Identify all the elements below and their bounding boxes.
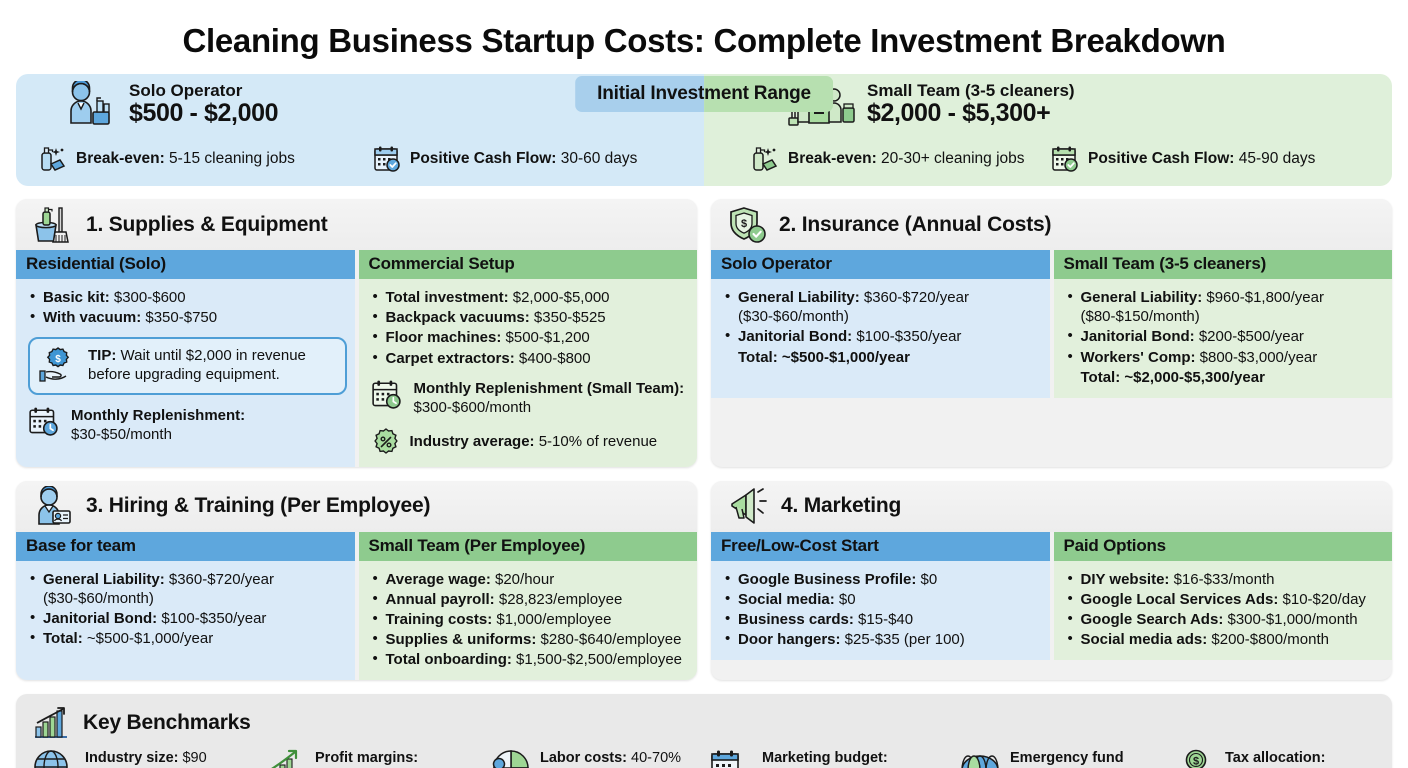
- list-item: Social media: $0: [723, 590, 1042, 609]
- item-label: Total:: [43, 630, 83, 647]
- section-card-insurance: $ 2. Insurance (Annual Costs) Solo Opera…: [711, 199, 1392, 467]
- list-item: DIY website: $16-$33/month: [1066, 570, 1385, 589]
- solo-breakeven-label: Break-even:: [76, 150, 165, 167]
- svg-text:$: $: [55, 354, 61, 365]
- replenishment-label: Monthly Replenishment:: [71, 407, 245, 424]
- benchmark-profit-margins: Profit margins:10-30% (residential): [262, 748, 487, 768]
- item-value: $15-$40: [854, 611, 913, 628]
- item-label: Carpet extractors:: [386, 350, 515, 367]
- marketing-paid-column: Paid Options DIY website: $16-$33/month …: [1054, 532, 1393, 661]
- item-value: $0: [916, 571, 937, 588]
- list-item-total: Total: ~$2,000-$5,300/year: [1066, 368, 1385, 387]
- item-value: $2,000-$5,000: [509, 289, 610, 306]
- item-label: Total onboarding:: [386, 651, 512, 668]
- insurance-columns: Solo Operator General Liability: $360-$7…: [711, 250, 1392, 398]
- marketing-columns: Free/Low-Cost Start Google Business Prof…: [711, 532, 1392, 661]
- benchmark-text: Labor costs: 40-70%of operating expenses: [540, 748, 683, 768]
- item-label: Social media ads:: [1081, 631, 1208, 648]
- supplies-tip-box: $ TIP: Wait until $2,000 in revenue befo…: [28, 337, 347, 395]
- hiring-team-heading: Small Team (Per Employee): [359, 532, 698, 561]
- section-card-marketing: 4. Marketing Free/Low-Cost Start Google …: [711, 481, 1392, 681]
- benchmark-industry-size: $ Industry size: $90billion annually (U.…: [32, 748, 262, 768]
- item-value: $500-$1,200: [501, 329, 589, 346]
- item-label: Janitorial Bond:: [738, 328, 852, 345]
- item-value: $200-$800/month: [1207, 631, 1329, 648]
- list-item: Google Search Ads: $300-$1,000/month: [1066, 610, 1385, 629]
- item-value: $360-$720/year: [165, 571, 274, 588]
- globe-dollar-icon: $: [32, 748, 76, 768]
- supplies-header: 1. Supplies & Equipment: [16, 199, 697, 250]
- benchmark-text: Profit margins:10-30% (residential): [315, 748, 445, 768]
- item-label: Annual payroll:: [386, 591, 495, 608]
- item-total: Total: ~$2,000-$5,300/year: [1081, 369, 1265, 386]
- shield-dollar-icon: $: [727, 205, 769, 245]
- item-subvalue: ($30-$60/month): [738, 307, 1042, 326]
- list-item: Google Business Profile: $0: [723, 570, 1042, 589]
- replenishment-text: Monthly Replenishment (Small Team):$300-…: [414, 379, 685, 418]
- list-item: Training costs: $1,000/employee: [371, 610, 690, 629]
- insurance-solo-body: General Liability: $360-$720/year($30-$6…: [711, 279, 1050, 398]
- employee-badge-icon: [32, 486, 76, 526]
- infographic-page: Cleaning Business Startup Costs: Complet…: [0, 0, 1408, 768]
- hiring-team-list: Average wage: $20/hour Annual payroll: $…: [371, 570, 690, 670]
- hiring-title: 3. Hiring & Training (Per Employee): [86, 494, 430, 518]
- item-label: General Liability:: [1081, 289, 1203, 306]
- marketing-free-heading: Free/Low-Cost Start: [711, 532, 1050, 561]
- item-label: Basic kit:: [43, 289, 110, 306]
- supplies-residential-column: Residential (Solo) Basic kit: $300-$600 …: [16, 250, 355, 467]
- benchmark-label: Marketing budget:: [762, 750, 888, 766]
- hiring-team-body: Average wage: $20/hour Annual payroll: $…: [359, 561, 698, 681]
- tip-label: TIP:: [88, 347, 116, 364]
- item-value: $280-$640/employee: [536, 631, 681, 648]
- investment-range-badge: Initial Investment Range: [575, 76, 833, 112]
- industry-average-label: Industry average:: [410, 433, 535, 450]
- item-value: $350-$750: [141, 309, 217, 326]
- insurance-team-heading: Small Team (3-5 cleaners): [1054, 250, 1393, 279]
- item-value: $300-$1,000/month: [1223, 611, 1357, 628]
- list-item: Annual payroll: $28,823/employee: [371, 590, 690, 609]
- sections-grid: 1. Supplies & Equipment Residential (Sol…: [16, 199, 1392, 680]
- list-item: Total onboarding: $1,500-$2,500/employee: [371, 650, 690, 669]
- percent-badge-icon: [371, 427, 401, 457]
- supplies-residential-heading: Residential (Solo): [16, 250, 355, 279]
- list-item: Supplies & uniforms: $280-$640/employee: [371, 630, 690, 649]
- item-value: $28,823/employee: [495, 591, 623, 608]
- marketing-free-column: Free/Low-Cost Start Google Business Prof…: [711, 532, 1050, 661]
- team-breakeven-label: Break-even:: [788, 150, 877, 167]
- insurance-team-column: Small Team (3-5 cleaners) General Liabil…: [1054, 250, 1393, 398]
- calendar-clock-icon: [371, 379, 405, 413]
- item-value: $16-$33/month: [1169, 571, 1274, 588]
- item-value: $400-$800: [515, 350, 591, 367]
- item-label: General Liability:: [738, 289, 860, 306]
- team-cashflow-text: Positive Cash Flow: 45-90 days: [1088, 150, 1315, 167]
- insurance-solo-column: Solo Operator General Liability: $360-$7…: [711, 250, 1050, 398]
- item-value: $300-$600: [110, 289, 186, 306]
- item-label: Janitorial Bond:: [43, 610, 157, 627]
- team-breakeven-stat: Break-even: 20-30+ cleaning jobs: [720, 144, 1050, 174]
- insurance-solo-list: General Liability: $360-$720/year($30-$6…: [723, 288, 1042, 367]
- spray-bottle-icon: [38, 144, 68, 174]
- section-card-supplies: 1. Supplies & Equipment Residential (Sol…: [16, 199, 697, 467]
- list-item: Workers' Comp: $800-$3,000/year: [1066, 348, 1385, 367]
- item-label: Google Search Ads:: [1081, 611, 1224, 628]
- hiring-base-heading: Base for team: [16, 532, 355, 561]
- marketing-header: 4. Marketing: [711, 481, 1392, 532]
- bucket-mop-icon: [32, 205, 76, 245]
- item-label: DIY website:: [1081, 571, 1170, 588]
- supplies-residential-replenishment: Monthly Replenishment:$30-$50/month: [28, 406, 347, 445]
- insurance-team-body: General Liability: $960-$1,800/year($80-…: [1054, 279, 1393, 398]
- supplies-industry-average: Industry average: 5-10% of revenue: [371, 427, 690, 457]
- benchmarks-title: Key Benchmarks: [83, 711, 251, 735]
- svg-text:$: $: [1193, 756, 1199, 768]
- page-title: Cleaning Business Startup Costs: Complet…: [16, 0, 1392, 74]
- hiring-base-list: General Liability: $360-$720/year($30-$6…: [28, 570, 347, 649]
- item-value: $100-$350/year: [157, 610, 266, 627]
- investment-range-banner: Solo Operator $500 - $2,000: [16, 74, 1392, 186]
- benchmark-value: 40-70%: [627, 750, 681, 766]
- item-value: $960-$1,800/year: [1202, 289, 1324, 306]
- item-label: Backpack vacuums:: [386, 309, 530, 326]
- replenishment-value: $30-$50/month: [71, 426, 245, 445]
- calendar-check-icon: [1050, 144, 1080, 174]
- umbrella-icon: [959, 748, 1001, 768]
- solo-cleaner-icon: [64, 81, 118, 129]
- section-card-hiring: 3. Hiring & Training (Per Employee) Base…: [16, 481, 697, 681]
- marketing-paid-list: DIY website: $16-$33/month Google Local …: [1066, 570, 1385, 650]
- marketing-paid-heading: Paid Options: [1054, 532, 1393, 561]
- supplies-commercial-list: Total investment: $2,000-$5,000 Backpack…: [371, 288, 690, 368]
- benchmark-tax-allocation: $ Tax allocation:25-30% of income: [1174, 748, 1374, 768]
- item-value: $0: [835, 591, 856, 608]
- insurance-solo-heading: Solo Operator: [711, 250, 1050, 279]
- benchmark-text: Emergency fundrecommended:$1,000 minimum: [1010, 748, 1124, 768]
- item-label: Business cards:: [738, 611, 854, 628]
- megaphone-icon: [727, 486, 771, 526]
- replenishment-value: $300-$600/month: [414, 399, 685, 418]
- item-total: Total: ~$500-$1,000/year: [738, 349, 910, 366]
- list-item: Janitorial Bond: $100-$350/year: [28, 609, 347, 628]
- team-breakeven-value: 20-30+ cleaning jobs: [877, 150, 1025, 167]
- supplies-columns: Residential (Solo) Basic kit: $300-$600 …: [16, 250, 697, 467]
- item-label: Janitorial Bond:: [1081, 328, 1195, 345]
- benchmark-emergency-fund: Emergency fundrecommended:$1,000 minimum: [959, 748, 1174, 768]
- team-cashflow-label: Positive Cash Flow:: [1088, 150, 1234, 167]
- banner-team-stats: Break-even: 20-30+ cleaning jobs: [704, 136, 1392, 182]
- solo-amount: $500 - $2,000: [129, 100, 278, 128]
- item-value: $100-$350/year: [852, 328, 961, 345]
- item-value: ~$500-$1,000/year: [83, 630, 214, 647]
- team-cashflow-value: 45-90 days: [1234, 150, 1315, 167]
- item-value: $1,500-$2,500/employee: [512, 651, 682, 668]
- item-value: $25-$35 (per 100): [841, 631, 965, 648]
- item-label: Floor machines:: [386, 329, 502, 346]
- team-breakeven-text: Break-even: 20-30+ cleaning jobs: [788, 150, 1025, 167]
- list-item: General Liability: $960-$1,800/year($80-…: [1066, 288, 1385, 326]
- supplies-residential-body: Basic kit: $300-$600 With vacuum: $350-$…: [16, 279, 355, 467]
- benchmark-text: Industry size: $90billion annually (U.S.…: [85, 748, 222, 768]
- tip-text: TIP: Wait until $2,000 in revenue before…: [88, 347, 337, 385]
- list-item-total: Total: ~$500-$1,000/year: [723, 348, 1042, 367]
- calendar-clock-icon: [28, 406, 62, 440]
- benchmark-label: Tax allocation:: [1225, 750, 1325, 766]
- item-value: $20/hour: [491, 571, 554, 588]
- key-benchmarks-panel: Key Benchmarks $ Industry size: $90billi…: [16, 694, 1392, 768]
- list-item: General Liability: $360-$720/year($30-$6…: [28, 570, 347, 608]
- benchmark-label: Industry size:: [85, 750, 178, 766]
- list-item: Carpet extractors: $400-$800: [371, 349, 690, 368]
- item-label: Google Local Services Ads:: [1081, 591, 1279, 608]
- item-label: Total investment:: [386, 289, 509, 306]
- insurance-team-list: General Liability: $960-$1,800/year($80-…: [1066, 288, 1385, 387]
- bar-chart-up-icon: [32, 706, 72, 740]
- people-pie-icon: [487, 748, 531, 768]
- item-label: Social media:: [738, 591, 835, 608]
- hiring-header: 3. Hiring & Training (Per Employee): [16, 481, 697, 532]
- benchmark-label: Emergency fund: [1010, 750, 1124, 766]
- item-value: $800-$3,000/year: [1195, 349, 1317, 366]
- solo-cashflow-stat: Positive Cash Flow: 30-60 days: [372, 144, 637, 174]
- item-label: Google Business Profile:: [738, 571, 916, 588]
- solo-breakeven-value: 5-15 cleaning jobs: [165, 150, 295, 167]
- marketing-title: 4. Marketing: [781, 494, 901, 518]
- list-item: Social media ads: $200-$800/month: [1066, 630, 1385, 649]
- list-item: Total investment: $2,000-$5,000: [371, 288, 690, 307]
- item-label: Average wage:: [386, 571, 491, 588]
- list-item: Average wage: $20/hour: [371, 570, 690, 589]
- list-item: Floor machines: $500-$1,200: [371, 328, 690, 347]
- supplies-residential-list: Basic kit: $300-$600 With vacuum: $350-$…: [28, 288, 347, 327]
- solo-cashflow-text: Positive Cash Flow: 30-60 days: [410, 150, 637, 167]
- item-value: $350-$525: [530, 309, 606, 326]
- item-subvalue: ($80-$150/month): [1081, 307, 1385, 326]
- hiring-team-column: Small Team (Per Employee) Average wage: …: [359, 532, 698, 681]
- supplies-commercial-replenishment: Monthly Replenishment (Small Team):$300-…: [371, 379, 690, 418]
- replenishment-text: Monthly Replenishment:$30-$50/month: [71, 406, 245, 445]
- tip-value: Wait until $2,000 in revenue before upgr…: [88, 347, 306, 383]
- benchmark-text: Marketing budget:2-5% of monthly revenue…: [762, 748, 923, 768]
- benchmark-label: Labor costs:: [540, 750, 627, 766]
- item-value: $10-$20/day: [1278, 591, 1366, 608]
- solo-cashflow-value: 30-60 days: [556, 150, 637, 167]
- solo-cashflow-label: Positive Cash Flow:: [410, 150, 556, 167]
- industry-average-value: 5-10% of revenue: [535, 433, 658, 450]
- calendar-check-icon: [372, 144, 402, 174]
- item-label: Workers' Comp:: [1081, 349, 1196, 366]
- benchmark-marketing-budget: Marketing budget:2-5% of monthly revenue…: [709, 748, 959, 768]
- item-subvalue: ($30-$60/month): [43, 589, 347, 608]
- list-item: General Liability: $360-$720/year($30-$6…: [723, 288, 1042, 326]
- spray-bottle-icon: [750, 144, 780, 174]
- list-item: Janitorial Bond: $200-$500/year: [1066, 327, 1385, 346]
- list-item: Total: ~$500-$1,000/year: [28, 629, 347, 648]
- item-label: With vacuum:: [43, 309, 141, 326]
- benchmark-label: Profit margins:: [315, 750, 418, 766]
- supplies-commercial-column: Commercial Setup Total investment: $2,00…: [359, 250, 698, 467]
- hiring-columns: Base for team General Liability: $360-$7…: [16, 532, 697, 681]
- marketing-paid-body: DIY website: $16-$33/month Google Local …: [1054, 561, 1393, 661]
- benchmark-labor-costs: Labor costs: 40-70%of operating expenses: [487, 748, 709, 768]
- list-item: Door hangers: $25-$35 (per 100): [723, 630, 1042, 649]
- item-label: Door hangers:: [738, 631, 841, 648]
- benchmarks-items: $ Industry size: $90billion annually (U.…: [32, 748, 1376, 768]
- item-value: $200-$500/year: [1195, 328, 1304, 345]
- insurance-header: $ 2. Insurance (Annual Costs): [711, 199, 1392, 250]
- badge-label: Initial Investment Range: [575, 83, 833, 105]
- solo-breakeven-stat: Break-even: 5-15 cleaning jobs: [32, 144, 372, 174]
- hand-coin-green-icon: $: [1174, 748, 1216, 768]
- industry-average-text: Industry average: 5-10% of revenue: [410, 432, 658, 452]
- list-item: Basic kit: $300-$600: [28, 288, 347, 307]
- supplies-commercial-body: Total investment: $2,000-$5,000 Backpack…: [359, 279, 698, 467]
- benchmark-value: $90: [178, 750, 206, 766]
- hiring-base-body: General Liability: $360-$720/year($30-$6…: [16, 561, 355, 681]
- list-item: Janitorial Bond: $100-$350/year: [723, 327, 1042, 346]
- marketing-free-list: Google Business Profile: $0 Social media…: [723, 570, 1042, 650]
- marketing-free-body: Google Business Profile: $0 Social media…: [711, 561, 1050, 661]
- hand-coin-icon: $: [38, 346, 80, 386]
- item-value: $360-$720/year: [860, 289, 969, 306]
- team-cashflow-stat: Positive Cash Flow: 45-90 days: [1050, 144, 1315, 174]
- team-amount: $2,000 - $5,300+: [867, 100, 1075, 128]
- hiring-base-column: Base for team General Liability: $360-$7…: [16, 532, 355, 681]
- svg-text:$: $: [741, 218, 747, 230]
- supplies-commercial-heading: Commercial Setup: [359, 250, 698, 279]
- team-label: Small Team (3-5 cleaners): [867, 82, 1075, 100]
- item-label: Training costs:: [386, 611, 493, 628]
- insurance-title: 2. Insurance (Annual Costs): [779, 213, 1051, 237]
- banner-solo-stats: Break-even: 5-15 cleaning jobs: [16, 136, 704, 182]
- calendar-piggy-icon: [709, 748, 753, 768]
- chart-growth-icon: [262, 748, 306, 768]
- list-item: Business cards: $15-$40: [723, 610, 1042, 629]
- replenishment-label: Monthly Replenishment (Small Team):: [414, 380, 685, 397]
- solo-label: Solo Operator: [129, 82, 278, 100]
- item-label: Supplies & uniforms:: [386, 631, 537, 648]
- item-label: General Liability:: [43, 571, 165, 588]
- solo-breakeven-text: Break-even: 5-15 cleaning jobs: [76, 150, 295, 167]
- benchmarks-header: Key Benchmarks: [32, 702, 1376, 744]
- supplies-title: 1. Supplies & Equipment: [86, 213, 328, 237]
- list-item: With vacuum: $350-$750: [28, 308, 347, 327]
- list-item: Google Local Services Ads: $10-$20/day: [1066, 590, 1385, 609]
- item-value: $1,000/employee: [492, 611, 611, 628]
- benchmark-text: Tax allocation:25-30% of income: [1225, 748, 1342, 768]
- list-item: Backpack vacuums: $350-$525: [371, 308, 690, 327]
